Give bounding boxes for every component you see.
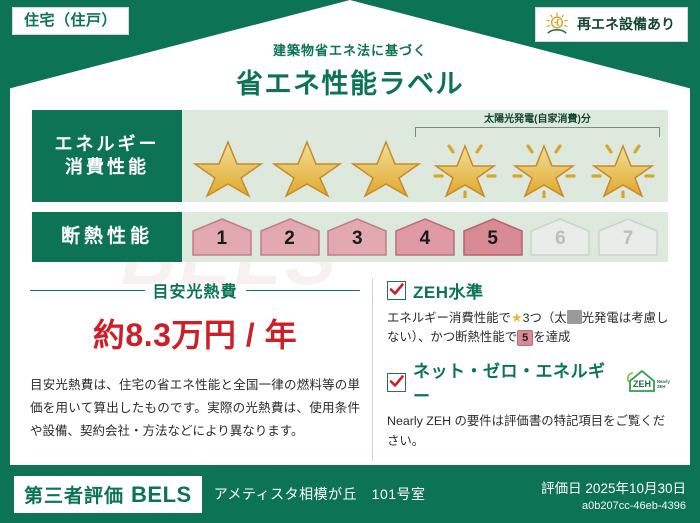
energy-star-rating [188, 136, 662, 198]
grade-step: 4 [394, 217, 456, 257]
inline-grade-badge: 5 [517, 330, 533, 346]
performance-section: エネルギー 消費性能 太陽光発電(自家消費)分 [32, 110, 668, 272]
bels-en-label: BELS [131, 482, 192, 508]
cost-heading: 目安光熱費 [30, 278, 360, 302]
inline-star-icon: ★ [511, 310, 523, 325]
grade-value: 3 [352, 229, 363, 257]
solar-note-label: 太陽光発電(自家消費)分 [415, 114, 660, 125]
heading-rule-right [246, 290, 361, 291]
checkbox-checked-icon [387, 373, 406, 392]
bels-certification-tag: 第三者評価 BELS [14, 476, 202, 513]
bels-energy-label: BELS 住宅（住戸） 再エネ設備あり 建築物省エネ [0, 0, 700, 523]
grade-step: 6 [529, 217, 591, 257]
zeh-block-container: ZEH水準 エネルギー消費性能で★3つ（太光発電は考慮しない）、かつ断熱性能で5… [372, 278, 670, 461]
property-name: アメティスタ相模が丘 101号室 [214, 484, 426, 504]
zeh-body-part4: を達成 [533, 330, 570, 344]
net-zero-body: Nearly ZEH の要件は評価書の特記項目をご覧ください。 [387, 412, 670, 450]
grade-step: 1 [191, 217, 253, 257]
grade-step: 2 [259, 217, 321, 257]
insulation-row-body: 1 2 3 4 5 [182, 212, 668, 262]
star-sparkle-icon [509, 136, 579, 198]
grade-value: 2 [284, 229, 295, 257]
star-icon [272, 136, 342, 198]
title-block: 建築物省エネ法に基づく 省エネ性能ラベル [0, 40, 700, 101]
energy-label-line2: 消費性能 [65, 156, 149, 179]
energy-row-label: エネルギー 消費性能 [32, 110, 182, 202]
lower-section: 目安光熱費 約8.3万円 / 年 目安光熱費は、住宅の省エネ性能と全国一律の燃料… [30, 278, 670, 461]
bels-jp-label: 第三者評価 [24, 481, 124, 508]
zeh-standard-title: ZEH水準 [413, 278, 484, 303]
heading-rule-left [30, 290, 145, 291]
insulation-row-label: 断熱性能 [32, 212, 182, 262]
svg-text:ZEH: ZEH [657, 384, 665, 389]
zeh-standard-body: エネルギー消費性能で★3つ（太光発電は考慮しない）、かつ断熱性能で5を達成 [387, 308, 670, 347]
grade-value: 6 [555, 229, 566, 257]
grade-value: 1 [217, 229, 228, 257]
zeh-body-part1: エネルギー消費性能で [387, 311, 511, 325]
net-zero-header: ネット・ゼロ・エネルギー ZEH Nearly ZEH [387, 357, 670, 407]
grade-value: 7 [623, 229, 634, 257]
house-type-tag: 住宅（住戸） [12, 7, 129, 35]
page-title: 省エネ性能ラベル [0, 62, 700, 101]
star-sparkle-icon [588, 136, 658, 198]
zeh-house-logo-icon: ZEH Nearly ZEH [622, 367, 670, 398]
energy-row-body: 太陽光発電(自家消費)分 [182, 110, 668, 202]
solar-sun-icon [544, 12, 570, 36]
grade-value: 5 [487, 229, 498, 257]
grade-step: 7 [597, 217, 659, 257]
zeh-standard-block: ZEH水準 エネルギー消費性能で★3つ（太光発電は考慮しない）、かつ断熱性能で5… [387, 278, 670, 347]
checkbox-checked-icon [387, 281, 406, 300]
footer-bar: 第三者評価 BELS アメティスタ相模が丘 101号室 評価日 2025年10月… [0, 465, 700, 523]
insulation-performance-row: 断熱性能 1 2 3 [32, 212, 668, 262]
insulation-label-text: 断熱性能 [61, 225, 153, 250]
insulation-grade-scale: 1 2 3 4 5 [182, 212, 668, 262]
energy-label-line1: エネルギー [55, 133, 160, 156]
redacted-character [567, 310, 582, 324]
utility-cost-block: 目安光熱費 約8.3万円 / 年 目安光熱費は、住宅の省エネ性能と全国一律の燃料… [30, 278, 372, 461]
zeh-body-part2: 3つ（太 [523, 311, 567, 325]
star-icon [193, 136, 263, 198]
grade-step: 3 [326, 217, 388, 257]
renewable-badge-label: 再エネ設備あり [577, 17, 675, 31]
grade-step-achieved: 5 [462, 217, 524, 257]
cost-heading-label: 目安光熱費 [153, 278, 238, 302]
grade-value: 4 [420, 229, 431, 257]
cost-description: 目安光熱費は、住宅の省エネ性能と全国一律の燃料等の単価を用いて算出したものです。… [30, 374, 360, 443]
solar-generation-annotation: 太陽光発電(自家消費)分 [415, 114, 660, 137]
cost-value: 約8.3万円 / 年 [30, 310, 360, 356]
evaluation-date: 評価日 2025年10月30日 [541, 477, 686, 497]
net-zero-title: ネット・ゼロ・エネルギー [413, 357, 615, 407]
renewable-energy-badge: 再エネ設備あり [535, 7, 688, 42]
evaluation-meta: 評価日 2025年10月30日 a0b207cc-46eb-4396 [541, 477, 686, 512]
evaluation-id: a0b207cc-46eb-4396 [541, 500, 686, 512]
svg-text:ZEH: ZEH [633, 379, 651, 389]
star-sparkle-icon [430, 136, 500, 198]
net-zero-energy-block: ネット・ゼロ・エネルギー ZEH Nearly ZEH Nearly ZEH の… [387, 357, 670, 450]
energy-performance-row: エネルギー 消費性能 太陽光発電(自家消費)分 [32, 110, 668, 202]
star-icon [351, 136, 421, 198]
zeh-standard-header: ZEH水準 [387, 278, 670, 303]
title-subtitle: 建築物省エネ法に基づく [0, 40, 700, 59]
